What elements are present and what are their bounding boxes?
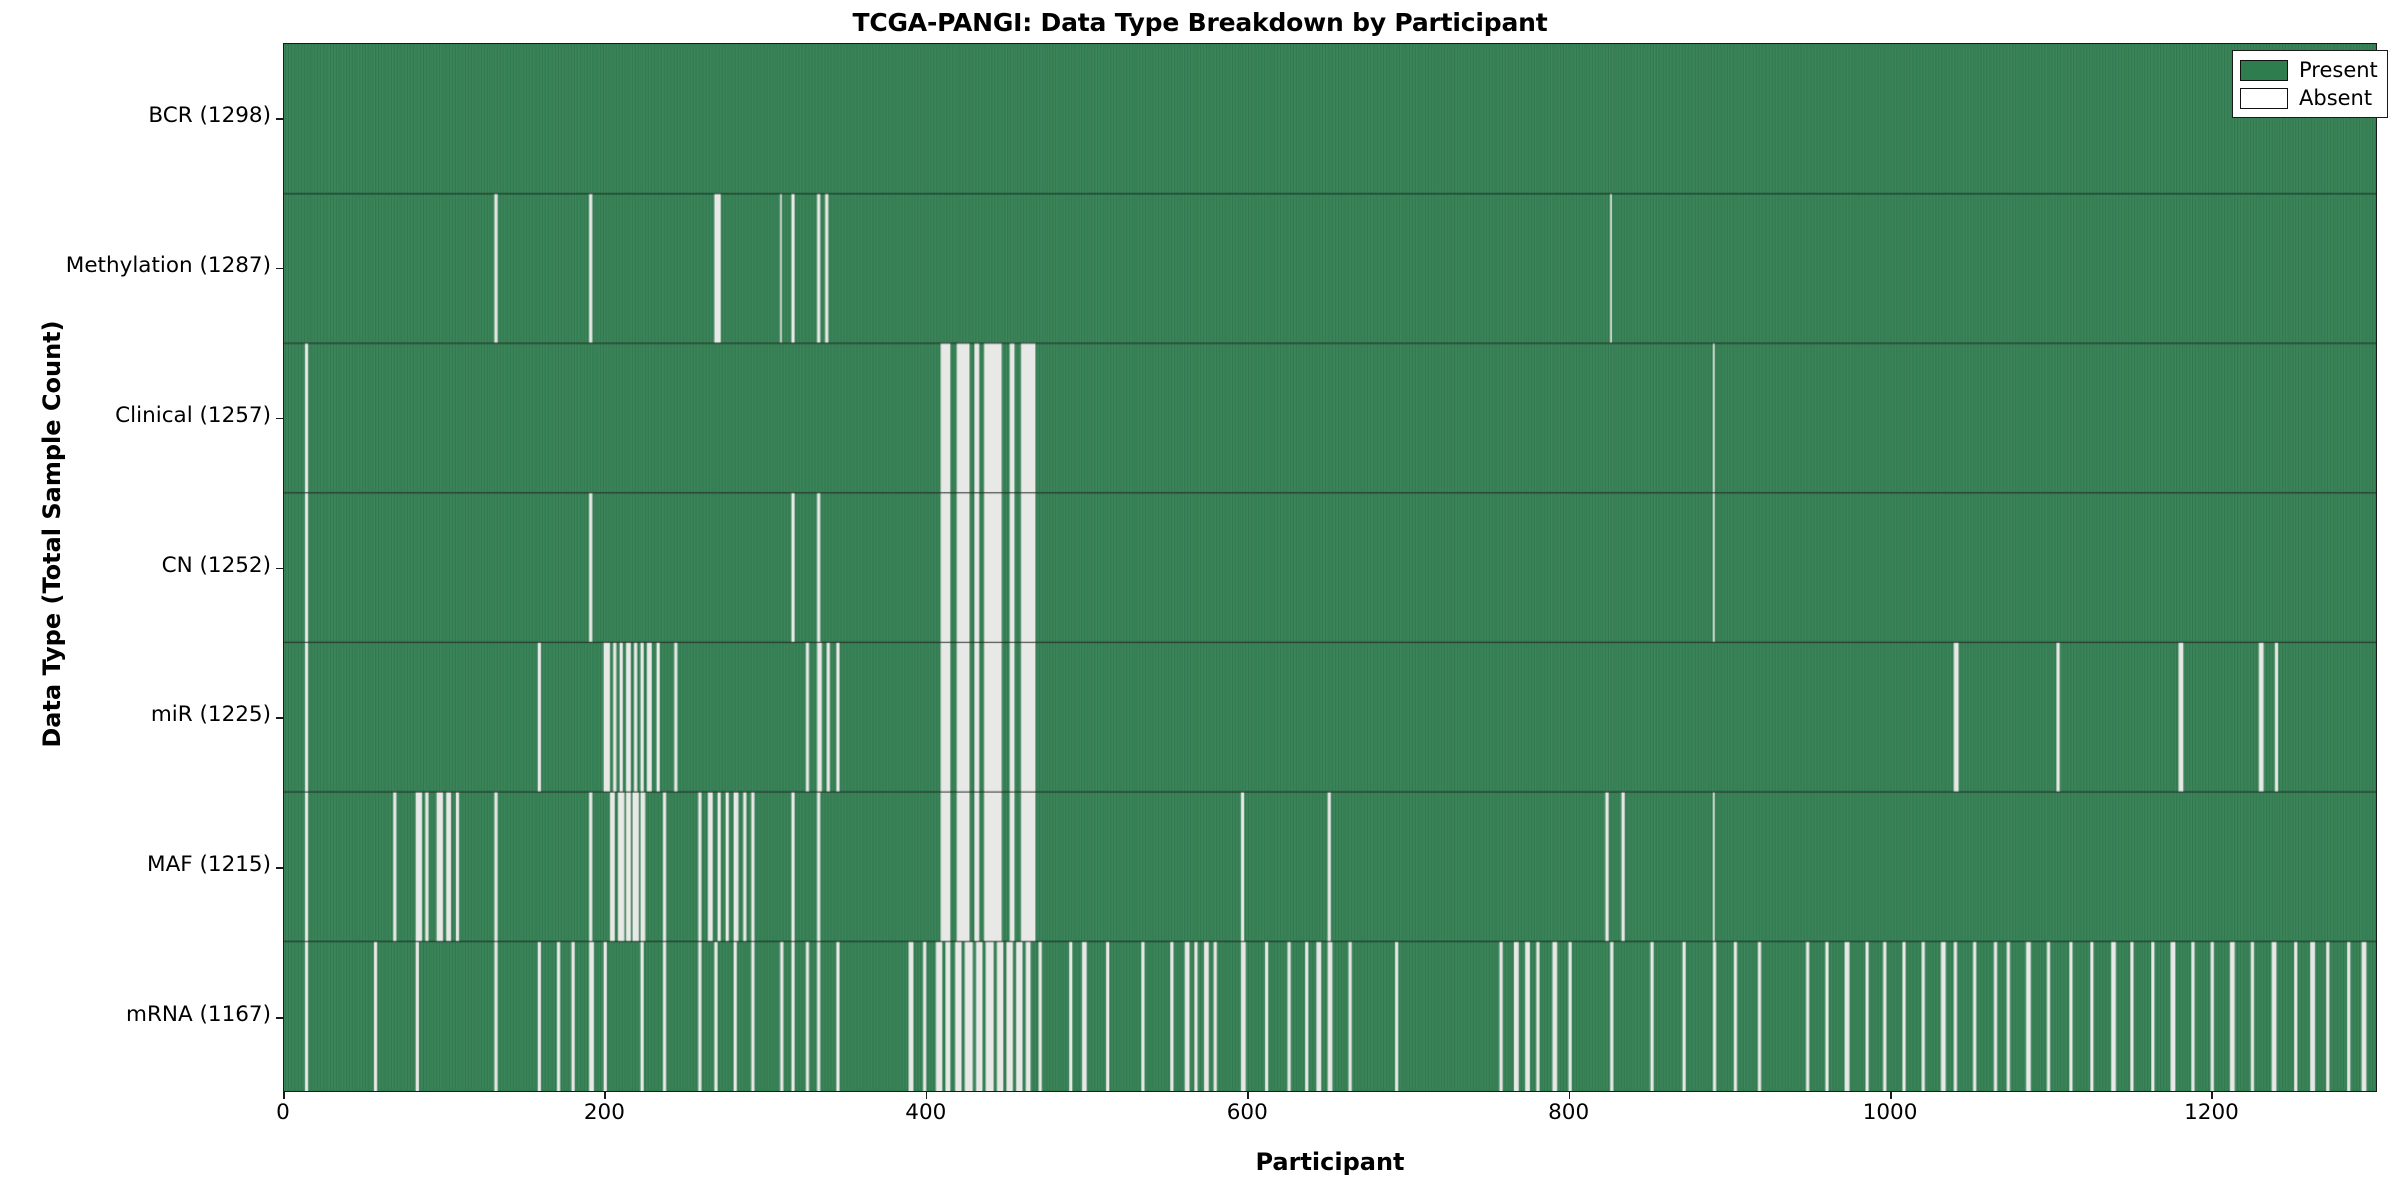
legend-swatch-absent — [2240, 88, 2288, 109]
x-tick-label: 1200 — [2184, 1100, 2239, 1125]
x-tick-mark — [283, 1092, 285, 1099]
x-tick-label: 0 — [276, 1100, 290, 1125]
x-tick-label: 200 — [584, 1100, 625, 1125]
x-tick-mark — [926, 1092, 928, 1099]
x-axis-title: Participant — [283, 1148, 2377, 1176]
y-tick-mark — [276, 268, 283, 270]
x-tick-label: 800 — [1548, 1100, 1589, 1125]
y-axis-title: Data Type (Total Sample Count) — [38, 254, 66, 814]
y-tick-mark — [276, 1017, 283, 1019]
y-tick-mark — [276, 717, 283, 719]
y-tick-label: miR (1225) — [0, 702, 271, 727]
chart-title: TCGA-PANGI: Data Type Breakdown by Parti… — [0, 8, 2400, 37]
y-tick-label: Methylation (1287) — [0, 253, 271, 278]
x-tick-mark — [2211, 1092, 2213, 1099]
y-tick-label: CN (1252) — [0, 553, 271, 578]
x-tick-label: 1000 — [1863, 1100, 1918, 1125]
x-tick-mark — [1247, 1092, 1249, 1099]
legend-item-absent: Absent — [2240, 84, 2378, 112]
legend-swatch-present — [2240, 60, 2288, 81]
y-tick-label: BCR (1298) — [0, 103, 271, 128]
y-tick-label: mRNA (1167) — [0, 1002, 271, 1027]
x-tick-mark — [604, 1092, 606, 1099]
y-tick-label: Clinical (1257) — [0, 403, 271, 428]
x-tick-mark — [1890, 1092, 1892, 1099]
y-tick-label: MAF (1215) — [0, 852, 271, 877]
heatmap-cells — [284, 44, 2376, 1091]
x-tick-label: 400 — [905, 1100, 946, 1125]
legend-label-present: Present — [2299, 60, 2378, 81]
y-tick-mark — [276, 867, 283, 869]
heatmap-plot-area — [283, 43, 2377, 1092]
x-tick-label: 600 — [1227, 1100, 1268, 1125]
y-tick-mark — [276, 418, 283, 420]
y-tick-mark — [276, 568, 283, 570]
legend-label-absent: Absent — [2299, 88, 2372, 109]
y-tick-mark — [276, 118, 283, 120]
figure-canvas: TCGA-PANGI: Data Type Breakdown by Parti… — [0, 0, 2400, 1200]
legend-item-present: Present — [2240, 56, 2378, 84]
x-tick-mark — [1569, 1092, 1571, 1099]
legend: Present Absent — [2232, 50, 2388, 118]
